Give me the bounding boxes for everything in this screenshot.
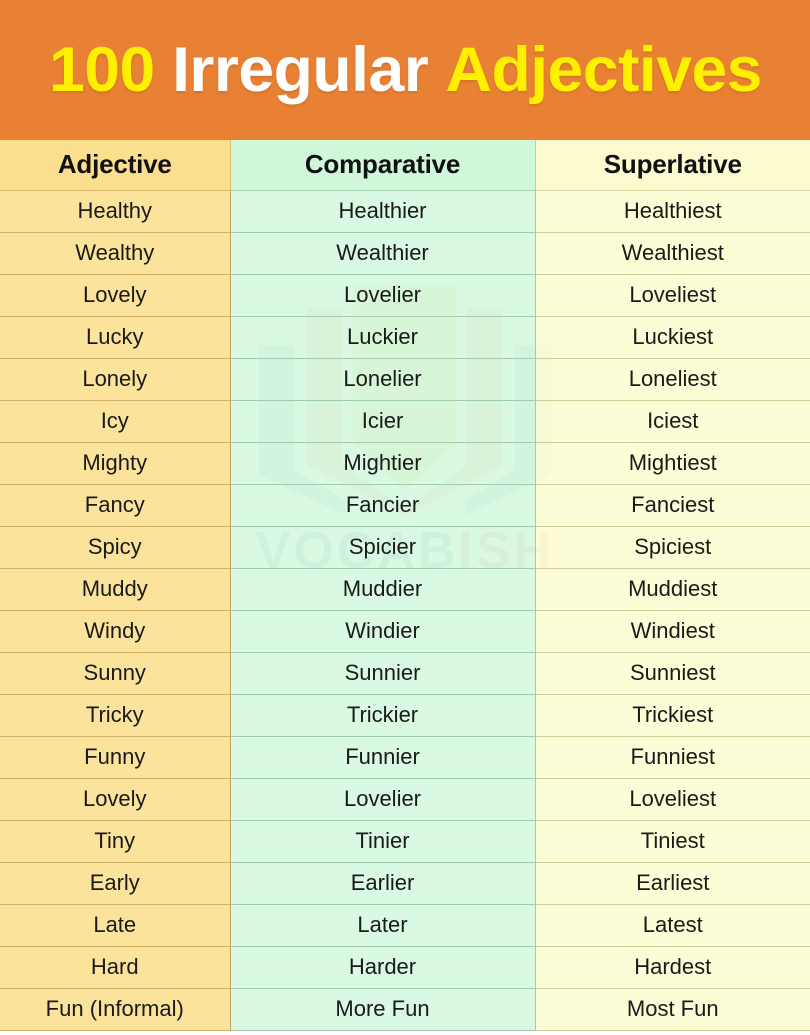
table-row: FancyFancierFanciest xyxy=(0,484,810,526)
table-row: LovelyLovelierLoveliest xyxy=(0,778,810,820)
cell-superlative: Luckiest xyxy=(535,316,810,358)
cell-superlative: Healthiest xyxy=(535,190,810,232)
table-row: SunnySunnierSunniest xyxy=(0,652,810,694)
cell-comparative: Later xyxy=(230,904,535,946)
cell-superlative: Iciest xyxy=(535,400,810,442)
table-row: SpicySpicierSpiciest xyxy=(0,526,810,568)
cell-superlative: Funniest xyxy=(535,736,810,778)
cell-comparative: Trickier xyxy=(230,694,535,736)
cell-adjective: Icy xyxy=(0,400,230,442)
cell-comparative: Lonelier xyxy=(230,358,535,400)
cell-superlative: Hardest xyxy=(535,946,810,988)
header-banner: 100 Irregular Adjectives xyxy=(0,0,810,140)
cell-superlative: Wealthiest xyxy=(535,232,810,274)
cell-comparative: Healthier xyxy=(230,190,535,232)
title-number: 100 xyxy=(49,35,155,105)
column-header-superlative: Superlative xyxy=(535,140,810,190)
page-title: 100 Irregular Adjectives xyxy=(49,39,762,102)
cell-adjective: Funny xyxy=(0,736,230,778)
cell-superlative: Muddiest xyxy=(535,568,810,610)
title-word-irregular: Irregular xyxy=(172,35,428,105)
table-row: MightyMightierMightiest xyxy=(0,442,810,484)
table-body: HealthyHealthierHealthiestWealthyWealthi… xyxy=(0,190,810,1030)
cell-superlative: Mightiest xyxy=(535,442,810,484)
cell-superlative: Sunniest xyxy=(535,652,810,694)
cell-adjective: Lovely xyxy=(0,778,230,820)
table-row: TinyTinierTiniest xyxy=(0,820,810,862)
cell-adjective: Fancy xyxy=(0,484,230,526)
cell-superlative: Earliest xyxy=(535,862,810,904)
table-row: IcyIcierIciest xyxy=(0,400,810,442)
cell-adjective: Tiny xyxy=(0,820,230,862)
column-header-comparative: Comparative xyxy=(230,140,535,190)
cell-adjective: Windy xyxy=(0,610,230,652)
cell-adjective: Early xyxy=(0,862,230,904)
cell-adjective: Hard xyxy=(0,946,230,988)
cell-comparative: Wealthier xyxy=(230,232,535,274)
cell-superlative: Latest xyxy=(535,904,810,946)
table-header-row: Adjective Comparative Superlative xyxy=(0,140,810,190)
cell-superlative: Windiest xyxy=(535,610,810,652)
cell-adjective: Tricky xyxy=(0,694,230,736)
table-row: WealthyWealthierWealthiest xyxy=(0,232,810,274)
title-word-adjectives: Adjectives xyxy=(445,35,761,105)
table-row: TrickyTrickierTrickiest xyxy=(0,694,810,736)
table-row: Fun (Informal)More FunMost Fun xyxy=(0,988,810,1030)
cell-superlative: Loneliest xyxy=(535,358,810,400)
cell-adjective: Healthy xyxy=(0,190,230,232)
cell-comparative: Spicier xyxy=(230,526,535,568)
cell-superlative: Fanciest xyxy=(535,484,810,526)
cell-comparative: Windier xyxy=(230,610,535,652)
poster-root: 100 Irregular Adjectives VOCABISH xyxy=(0,0,810,1035)
table-row: WindyWindierWindiest xyxy=(0,610,810,652)
table-row: LuckyLuckierLuckiest xyxy=(0,316,810,358)
cell-comparative: Funnier xyxy=(230,736,535,778)
column-header-adjective: Adjective xyxy=(0,140,230,190)
cell-superlative: Loveliest xyxy=(535,274,810,316)
cell-adjective: Late xyxy=(0,904,230,946)
cell-comparative: Earlier xyxy=(230,862,535,904)
cell-adjective: Lucky xyxy=(0,316,230,358)
cell-comparative: Muddier xyxy=(230,568,535,610)
table-row: MuddyMuddierMuddiest xyxy=(0,568,810,610)
cell-adjective: Sunny xyxy=(0,652,230,694)
cell-comparative: Tinier xyxy=(230,820,535,862)
cell-comparative: Luckier xyxy=(230,316,535,358)
cell-comparative: More Fun xyxy=(230,988,535,1030)
cell-adjective: Mighty xyxy=(0,442,230,484)
cell-adjective: Lovely xyxy=(0,274,230,316)
table-head: Adjective Comparative Superlative xyxy=(0,140,810,190)
table-row: HardHarderHardest xyxy=(0,946,810,988)
cell-comparative: Icier xyxy=(230,400,535,442)
adjectives-table: Adjective Comparative Superlative Health… xyxy=(0,140,810,1031)
cell-comparative: Fancier xyxy=(230,484,535,526)
cell-superlative: Loveliest xyxy=(535,778,810,820)
cell-comparative: Lovelier xyxy=(230,274,535,316)
table-row: LonelyLonelierLoneliest xyxy=(0,358,810,400)
cell-adjective: Wealthy xyxy=(0,232,230,274)
table-container: VOCABISH Adjective Comparative Superlati… xyxy=(0,140,810,1035)
table-row: FunnyFunnierFunniest xyxy=(0,736,810,778)
cell-adjective: Fun (Informal) xyxy=(0,988,230,1030)
cell-adjective: Lonely xyxy=(0,358,230,400)
cell-comparative: Sunnier xyxy=(230,652,535,694)
cell-comparative: Harder xyxy=(230,946,535,988)
cell-adjective: Spicy xyxy=(0,526,230,568)
cell-superlative: Spiciest xyxy=(535,526,810,568)
cell-superlative: Tiniest xyxy=(535,820,810,862)
cell-comparative: Mightier xyxy=(230,442,535,484)
table-row: LateLaterLatest xyxy=(0,904,810,946)
cell-adjective: Muddy xyxy=(0,568,230,610)
table-row: EarlyEarlierEarliest xyxy=(0,862,810,904)
cell-superlative: Trickiest xyxy=(535,694,810,736)
table-row: LovelyLovelierLoveliest xyxy=(0,274,810,316)
cell-superlative: Most Fun xyxy=(535,988,810,1030)
table-row: HealthyHealthierHealthiest xyxy=(0,190,810,232)
cell-comparative: Lovelier xyxy=(230,778,535,820)
